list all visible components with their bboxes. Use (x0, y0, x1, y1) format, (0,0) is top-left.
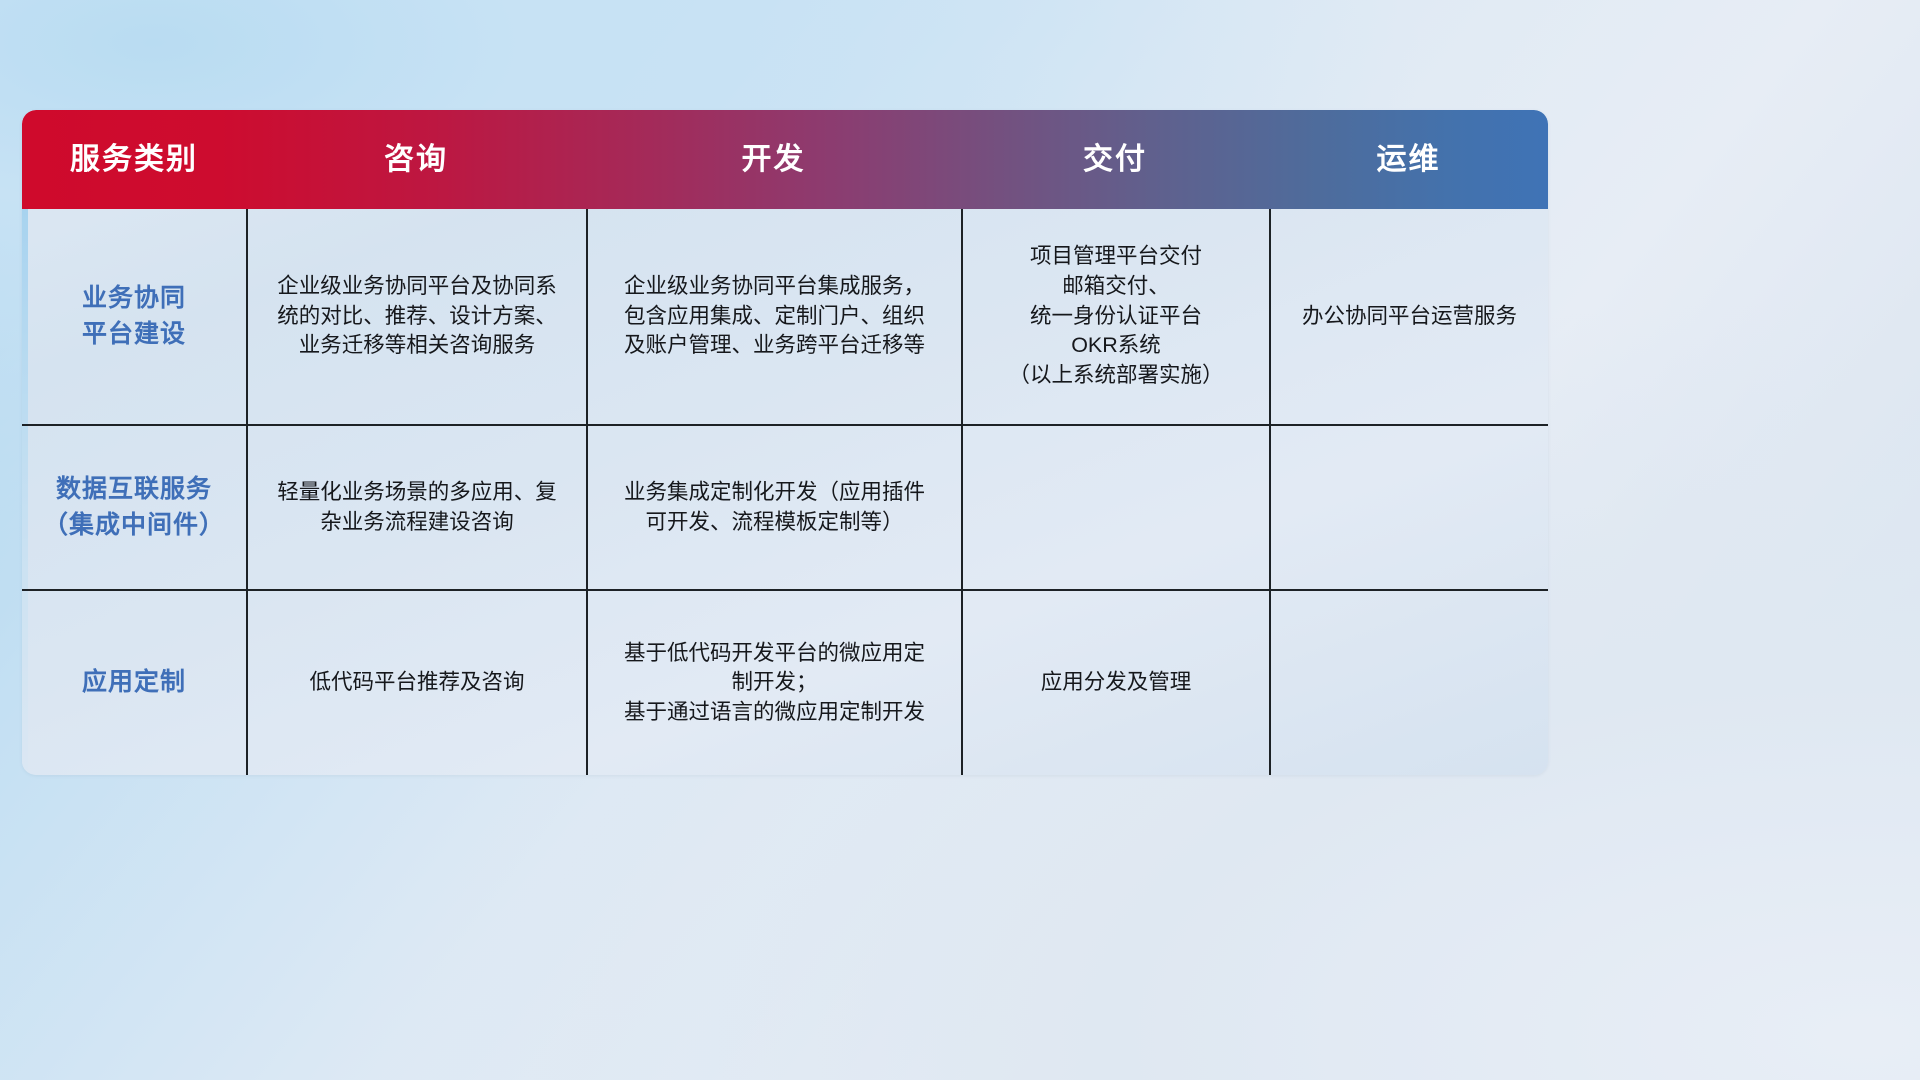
table-header-row: 服务类别 咨询 开发 交付 运维 (22, 110, 1548, 209)
table-header-service-category: 服务类别 (22, 110, 246, 209)
cell-delivery: 应用分发及管理 (961, 591, 1269, 775)
table-row: 数据互联服务 （集成中间件） 轻量化业务场景的多应用、复 杂业务流程建设咨询 业… (22, 424, 1548, 589)
table-header-delivery: 交付 (961, 110, 1269, 209)
table-body: 业务协同 平台建设 企业级业务协同平台及协同系 统的对比、推荐、设计方案、 业务… (22, 209, 1548, 775)
slide-canvas: 服务类别 咨询 开发 交付 运维 业务协同 平台建设 企业级业务协同平台及协同系… (0, 0, 1920, 1080)
table-row: 应用定制 低代码平台推荐及咨询 基于低代码开发平台的微应用定 制开发； 基于通过… (22, 589, 1548, 775)
cell-development: 企业级业务协同平台集成服务， 包含应用集成、定制门户、组织 及账户管理、业务跨平… (586, 209, 961, 424)
cell-delivery (961, 426, 1269, 589)
row-category-label: 应用定制 (22, 591, 246, 775)
cell-operations: 办公协同平台运营服务 (1269, 209, 1548, 424)
row-category-label: 数据互联服务 （集成中间件） (22, 426, 246, 589)
cell-consulting: 轻量化业务场景的多应用、复 杂业务流程建设咨询 (246, 426, 586, 589)
cell-operations (1269, 426, 1548, 589)
table-header-development: 开发 (586, 110, 961, 209)
table-row: 业务协同 平台建设 企业级业务协同平台及协同系 统的对比、推荐、设计方案、 业务… (22, 209, 1548, 424)
cell-development: 业务集成定制化开发（应用插件 可开发、流程模板定制等） (586, 426, 961, 589)
cell-operations (1269, 591, 1548, 775)
cell-consulting: 企业级业务协同平台及协同系 统的对比、推荐、设计方案、 业务迁移等相关咨询服务 (246, 209, 586, 424)
table-header-operations: 运维 (1269, 110, 1548, 209)
cell-delivery: 项目管理平台交付 邮箱交付、 统一身份认证平台 OKR系统 （以上系统部署实施） (961, 209, 1269, 424)
table-header-consulting: 咨询 (246, 110, 586, 209)
row-category-label: 业务协同 平台建设 (22, 209, 246, 424)
service-matrix-table: 服务类别 咨询 开发 交付 运维 业务协同 平台建设 企业级业务协同平台及协同系… (22, 110, 1548, 775)
cell-consulting: 低代码平台推荐及咨询 (246, 591, 586, 775)
cell-development: 基于低代码开发平台的微应用定 制开发； 基于通过语言的微应用定制开发 (586, 591, 961, 775)
